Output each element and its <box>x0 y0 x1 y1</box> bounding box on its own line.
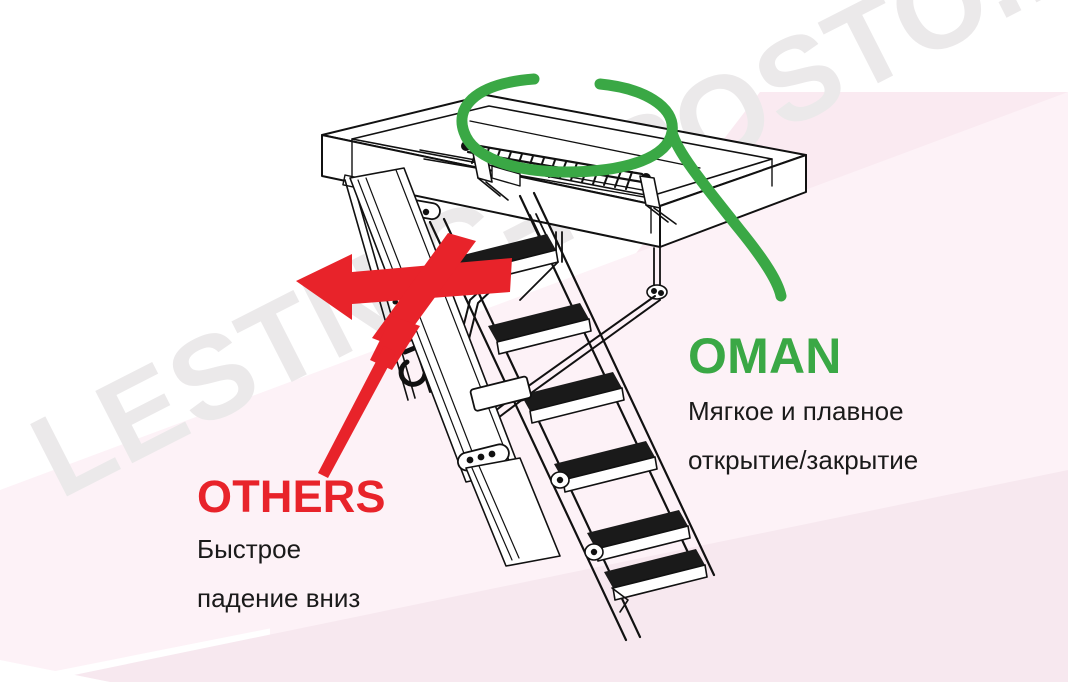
oman-brand-title: OMAN <box>688 331 918 381</box>
infographic-canvas: LESTNIC-PROSTO.RU <box>0 0 1068 682</box>
others-description-line-1: Быстрое <box>197 530 386 568</box>
callout-good: OMAN Мягкое и плавное открытие/закрытие <box>688 331 918 479</box>
oman-description-line-1: Мягкое и плавное <box>688 393 918 430</box>
callout-text-layer: OMAN Мягкое и плавное открытие/закрытие … <box>0 0 1068 682</box>
oman-description-line-2: открытие/закрытие <box>688 442 918 479</box>
callout-bad: OTHERS Быстрое падение вниз <box>197 474 386 618</box>
others-brand-title: OTHERS <box>197 474 386 519</box>
others-description-line-2: падение вниз <box>197 579 386 617</box>
